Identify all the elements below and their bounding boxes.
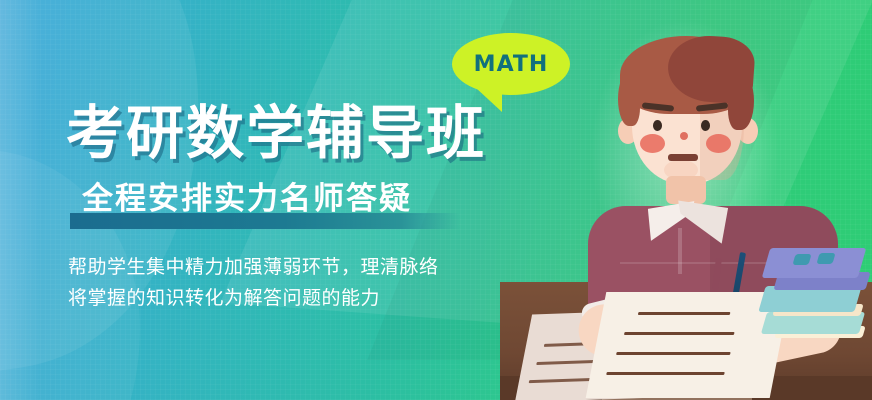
mouth xyxy=(668,154,698,161)
speech-bubble: MATH xyxy=(452,33,570,95)
promo-banner: 考研数学辅导班 全程安排实力名师答疑 帮助学生集中精力加强薄弱环节，理清脉络 将… xyxy=(0,0,872,400)
book-stack xyxy=(762,248,870,346)
eye-left xyxy=(653,120,662,131)
cheek-left xyxy=(640,134,665,153)
neck xyxy=(666,176,706,204)
speech-bubble-label: MATH xyxy=(474,52,549,77)
cheek-right xyxy=(706,134,731,153)
page-title: 考研数学辅导班 xyxy=(66,104,486,162)
subtitle-group: 全程安排实力名师答疑 xyxy=(66,180,486,232)
eye-right xyxy=(701,120,710,131)
book-top-cover xyxy=(762,248,867,278)
body-text-line-2: 将掌握的知识转化为解答问题的能力 xyxy=(68,283,439,314)
body-text: 帮助学生集中精力加强薄弱环节，理清脉络 将掌握的知识转化为解答问题的能力 xyxy=(68,252,439,314)
page-subtitle: 全程安排实力名师答疑 xyxy=(82,180,412,219)
nose xyxy=(680,132,688,140)
hair-side-left xyxy=(618,72,640,126)
hair-side-right xyxy=(728,72,754,130)
body-text-line-1: 帮助学生集中精力加强薄弱环节，理清脉络 xyxy=(68,252,439,283)
polo-shirt-placket xyxy=(678,228,682,274)
